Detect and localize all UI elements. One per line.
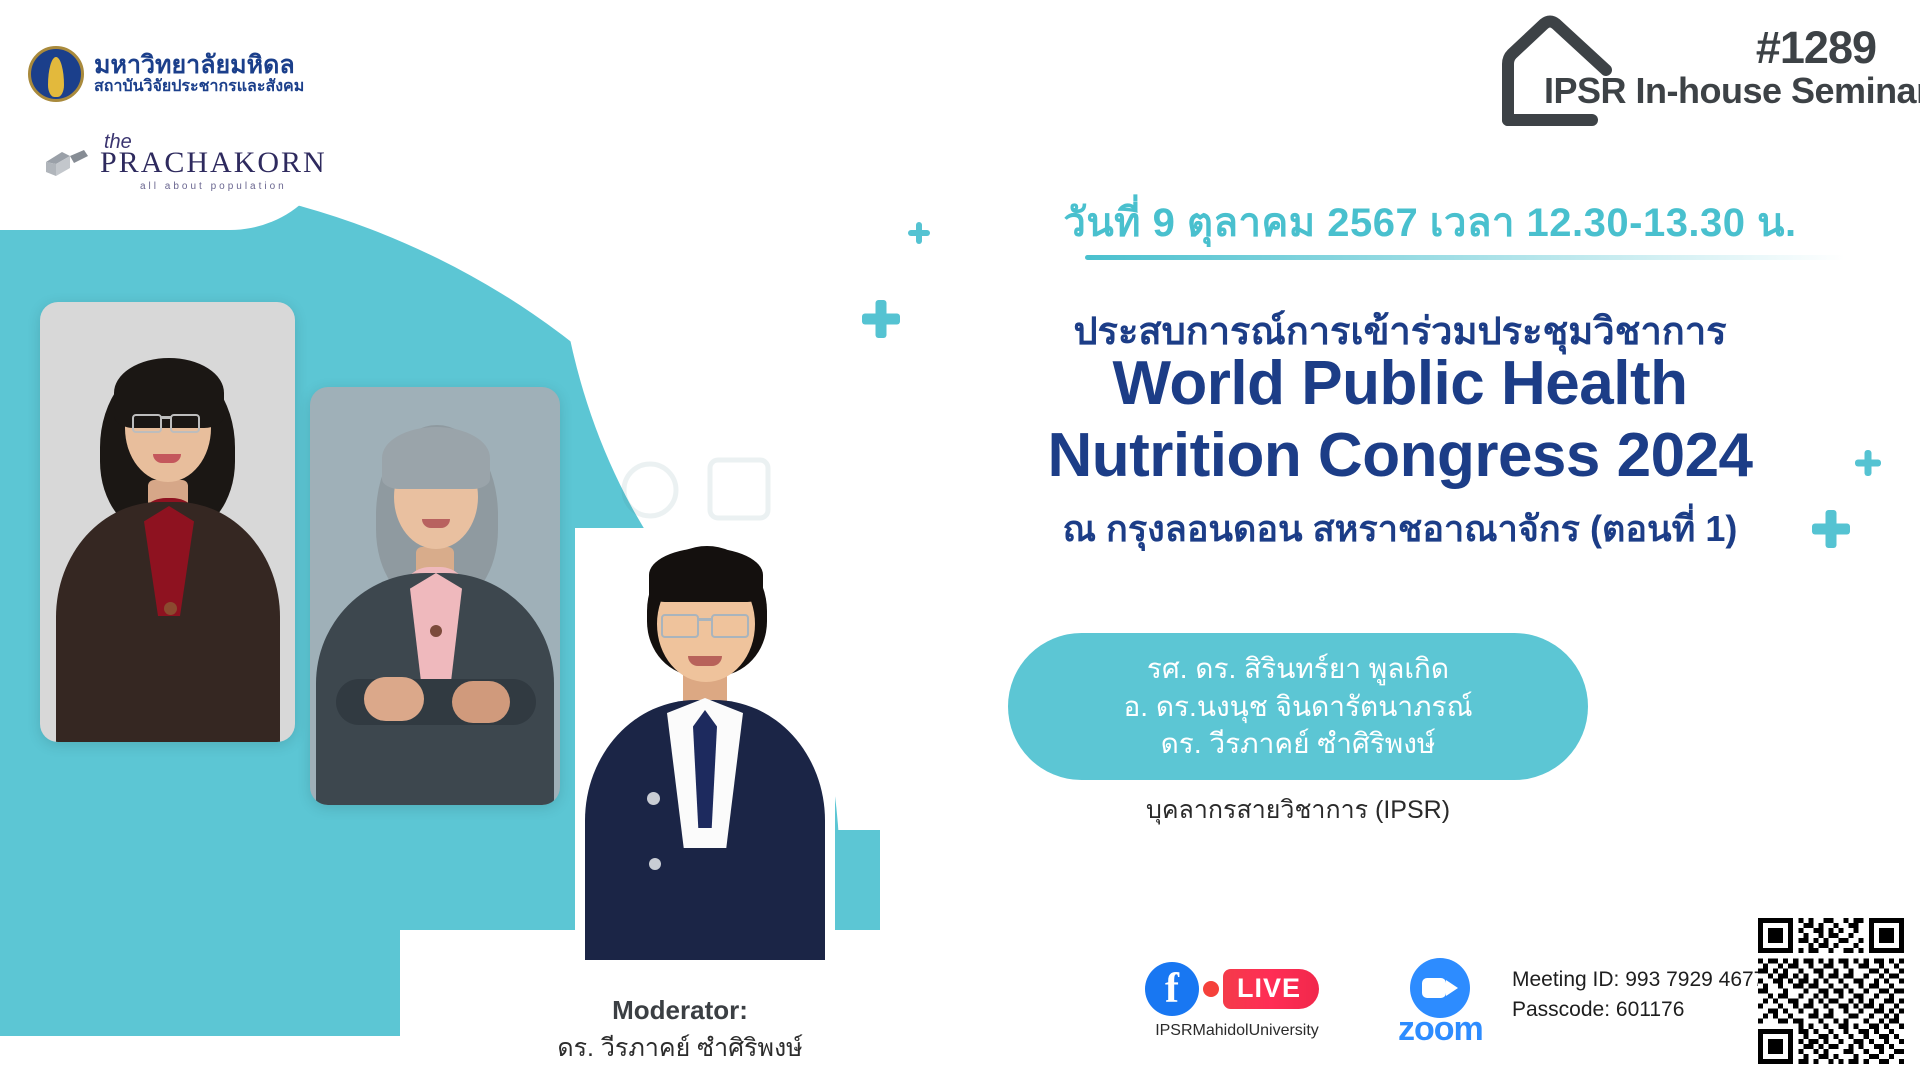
mahidol-seal-icon [28, 46, 84, 102]
event-title-english-line2: Nutrition Congress 2024 [880, 420, 1920, 491]
seminar-title: IPSR In-house Seminar [1544, 70, 1920, 112]
prachakorn-logo: the PRACHAKORN all about population [40, 132, 327, 192]
prachakorn-wordmark: PRACHAKORN [100, 148, 327, 178]
facebook-page-name: IPSRMahidolUniversity [1137, 1022, 1337, 1040]
event-date-time: วันที่ 9 ตุลาคม 2567 เวลา 12.30-13.30 น. [980, 190, 1880, 254]
seminar-badge: #1289 IPSR In-house Seminar [1484, 8, 1884, 126]
speakers-box: รศ. ดร. สิรินทร์ยา พูลเกิด อ. ดร.นงนุช จ… [1008, 633, 1588, 780]
speaker-name-2: อ. ดร.นงนุช จินดารัตนาภรณ์ [1123, 688, 1472, 726]
event-title-english-line1: World Public Health [880, 348, 1920, 419]
moderator-block: Moderator: ดร. วีรภาคย์ ซำศิริพงษ์ [470, 995, 890, 1068]
speaker-name-1: รศ. ดร. สิรินทร์ยา พูลเกิด [1147, 650, 1449, 688]
mahidol-university-logo: มหาวิทยาลัยมหิดล สถาบันวิจัยประชากรและสั… [28, 46, 304, 102]
seminar-number: #1289 [1756, 22, 1876, 74]
divider-line [1085, 255, 1845, 260]
speaker-photo-1 [40, 302, 295, 742]
moderator-label: Moderator: [470, 995, 890, 1026]
logo-panel [0, 0, 340, 230]
facebook-icon[interactable]: f [1145, 962, 1199, 1016]
speakers-affiliation: บุคลากรสายวิชาการ (IPSR) [1008, 790, 1588, 830]
prachakorn-tagline: all about population [100, 181, 327, 192]
facebook-live-block[interactable]: f LIVE IPSRMahidolUniversity [1145, 962, 1337, 1040]
zoom-passcode: Passcode: 601176 [1512, 995, 1765, 1025]
moderator-photo [575, 528, 835, 960]
seminar-poster: มหาวิทยาลัยมหิดล สถาบันวิจัยประชากรและสั… [0, 0, 1920, 1080]
mahidol-institute-name: สถาบันวิจัยประชากรและสังคม [94, 78, 304, 96]
zoom-camera-icon [1410, 958, 1470, 1018]
prachakorn-mark-icon [40, 142, 92, 182]
speaker-name-3: ดร. วีรภาคย์ ซำศิริพงษ์ [1161, 725, 1436, 763]
zoom-block[interactable]: zoom [1398, 958, 1483, 1049]
qr-code[interactable] [1758, 918, 1904, 1064]
zoom-meeting-id: Meeting ID: 993 7929 4677 [1512, 965, 1765, 995]
speaker-photo-2 [310, 387, 560, 805]
event-title-thai-line2: ณ กรุงลอนดอน สหราชอาณาจักร (ตอนที่ 1) [880, 500, 1920, 557]
live-dot-icon [1203, 981, 1219, 997]
zoom-meeting-details: Meeting ID: 993 7929 4677 Passcode: 6011… [1512, 965, 1765, 1026]
mahidol-name: มหาวิทยาลัยมหิดล [94, 52, 304, 78]
live-badge: LIVE [1223, 969, 1319, 1009]
moderator-name: ดร. วีรภาคย์ ซำศิริพงษ์ [470, 1028, 890, 1068]
